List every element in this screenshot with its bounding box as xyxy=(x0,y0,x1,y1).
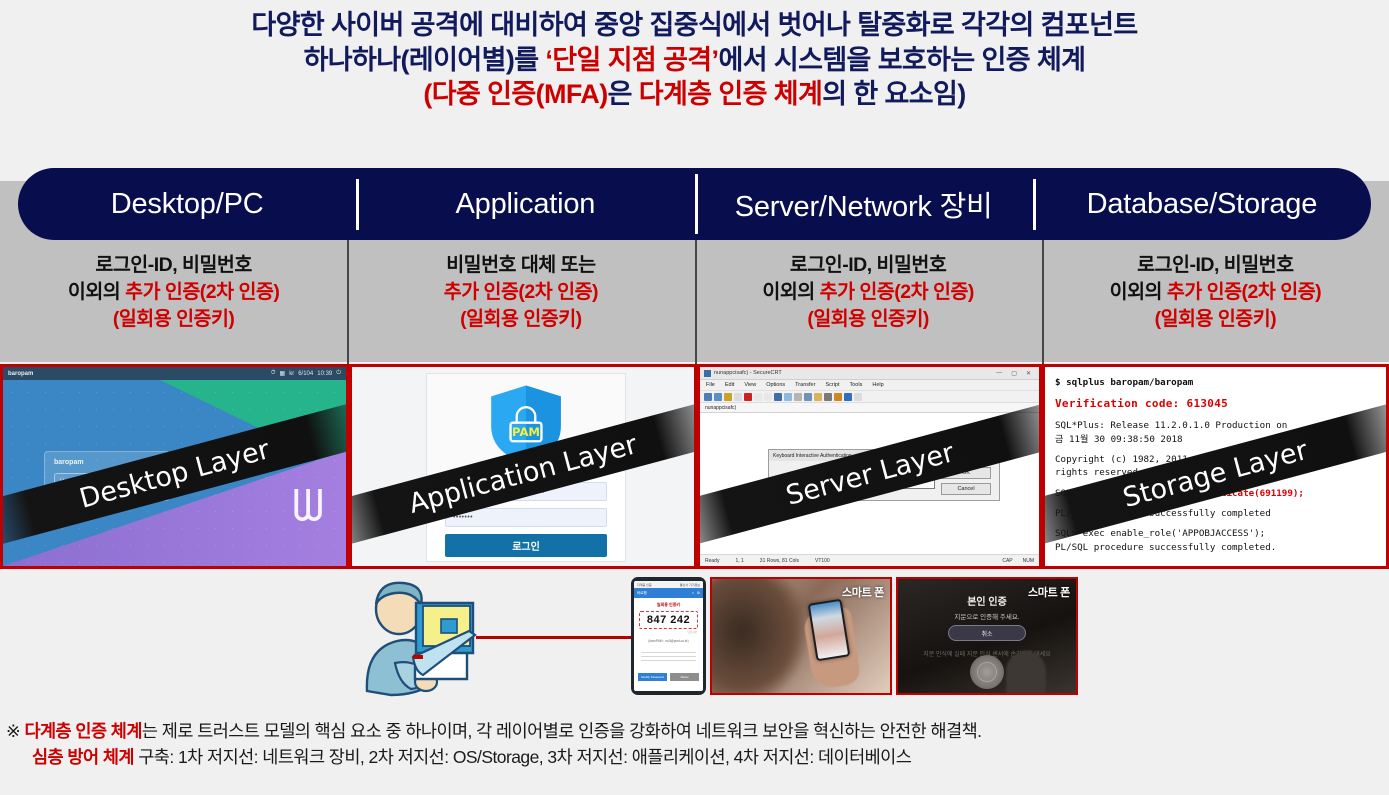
layer-description-row: 로그인-ID, 비밀번호 이외의 추가 인증(2차 인증) (일회용 인증키) … xyxy=(0,240,1389,362)
dialog-content: OK Cancel xyxy=(769,461,999,501)
desktop-login-box: baropam Verificat... xyxy=(44,451,170,501)
desc-line-2-red: 추가 인증(2차 인증) xyxy=(1167,281,1321,303)
sql-result-line-1: PL/SQL procedure successfully completed xyxy=(1055,507,1376,520)
photo-smartphone-in-hand: 스마트 폰 xyxy=(710,577,892,695)
dialog-titlebar: Keyboard Interactive Authentication ✕ xyxy=(769,450,999,461)
otp-status-left: 다계층 인증 xyxy=(637,583,652,587)
user-with-laptop-illustration xyxy=(355,579,480,697)
ok-button[interactable]: OK xyxy=(941,467,991,479)
desc-line-2-red: 추가 인증(2차 인증) xyxy=(347,279,694,306)
menu-tools[interactable]: Tools xyxy=(850,382,863,388)
screenshot-panel-row: baropam ⏱ ▦ kr 6/104 10:39 ⏻ baropam Ver… xyxy=(0,364,1389,569)
title-mfa-highlight: 다중 인증(MFA) xyxy=(432,79,608,109)
log-session-icon[interactable] xyxy=(784,393,792,401)
desktop-top-panel[interactable]: baropam ⏱ ▦ kr 6/104 10:39 ⏻ xyxy=(3,367,346,380)
maximize-icon[interactable]: ▢ xyxy=(1011,370,1017,377)
desc-line-2: 이외의 추가 인증(2차 인증) xyxy=(695,279,1042,306)
transfer-icon[interactable] xyxy=(794,393,802,401)
footnote-line-1-rest: 는 제로 트러스트 모델의 핵심 요소 중 하나이며, 각 레이어별로 인증을 … xyxy=(142,721,982,741)
folder-icon[interactable] xyxy=(724,393,732,401)
desc-line-3: (일회용 인증키) xyxy=(695,306,1042,333)
photo-background-blur xyxy=(710,577,808,695)
securecrt-titlebar: nunappcisafc) - SecureCRT — ▢ ✕ xyxy=(700,367,1039,380)
dialog-buttons: OK Cancel xyxy=(941,467,991,495)
status-num-lock: NUM xyxy=(1023,558,1034,564)
footnote-highlight-1: 다계층 인증 체계 xyxy=(24,721,141,741)
title-line-1: 다양한 사이버 공격에 대비하여 중앙 집중식에서 벗어나 탈중화로 각각의 컴… xyxy=(0,8,1389,43)
desktop-system-tray[interactable]: ⏱ ▦ kr 6/104 10:39 ⏻ xyxy=(271,370,341,377)
fingerprint-auth-subtitle: 지문으로 인증해 주세요. xyxy=(898,611,1076,621)
sql-copyright-line-2: rights reserved. xyxy=(1055,467,1144,478)
desc-line-1: 비밀번호 대체 또는 xyxy=(347,252,694,279)
title-line-3-c: 의 한 요소임) xyxy=(822,79,965,109)
description-desktop-pc: 로그인-ID, 비밀번호 이외의 추가 인증(2차 인증) (일회용 인증키) xyxy=(0,240,347,362)
title-paren-open: ( xyxy=(423,79,431,109)
sql-prompt-line: $ sqlplus baropam/baropam xyxy=(1055,376,1376,389)
input-language-indicator[interactable]: kr xyxy=(289,371,294,377)
menu-transfer[interactable]: Transfer xyxy=(795,382,815,388)
sql-release-line-2: 금 11월 30 09:38:50 2018 xyxy=(1055,434,1183,445)
status-rows-cols: 31 Rows, 81 Cols xyxy=(760,558,799,564)
panel-storage-layer: $ sqlplus baropam/baropam Verification c… xyxy=(1042,364,1389,569)
login-button[interactable]: 로그인 xyxy=(445,534,607,557)
otp-app-header: 바로팸 < ⚙ xyxy=(634,588,703,598)
new-session-icon[interactable] xyxy=(704,393,712,401)
svg-text:PAM: PAM xyxy=(512,425,540,439)
status-cursor-position: 1, 1 xyxy=(735,558,743,564)
status-indicators: CAP NUM xyxy=(1002,558,1034,564)
application-page-background: PAM baropam : no3@post.co.kr ••••••• 로그인 xyxy=(352,367,694,566)
status-ready: Ready xyxy=(705,558,719,564)
copy-icon[interactable] xyxy=(754,393,762,401)
status-caps-lock: CAP xyxy=(1002,558,1012,564)
menu-script[interactable]: Script xyxy=(825,382,839,388)
panel-application-layer: PAM baropam : no3@post.co.kr ••••••• 로그인… xyxy=(349,364,697,569)
desc-line-2-red: 추가 인증(2차 인증) xyxy=(820,281,974,303)
menu-options[interactable]: Options xyxy=(766,382,785,388)
window-title: nunappcisafc) - SecureCRT xyxy=(714,370,782,376)
password-field[interactable]: ••••••• xyxy=(445,508,607,527)
connect-icon[interactable] xyxy=(714,393,722,401)
sql-copyright-line-1: Copyright (c) 1982, 2011, Oracle. All xyxy=(1055,454,1265,465)
find-icon[interactable] xyxy=(774,393,782,401)
desc-line-2: 이외의 추가 인증(2차 인증) xyxy=(1042,279,1389,306)
desc-line-1: 로그인-ID, 비밀번호 xyxy=(1042,252,1389,279)
layer-header-bar: Desktop/PC Application Server/Network 장비… xyxy=(18,168,1371,240)
power-icon[interactable]: ⏻ xyxy=(336,370,341,377)
desc-line-1: 로그인-ID, 비밀번호 xyxy=(0,252,347,279)
otp-input[interactable] xyxy=(777,479,935,489)
photo-a-label: 스마트 폰 xyxy=(842,584,884,600)
menu-file[interactable]: File xyxy=(706,382,715,388)
securecrt-app-icon xyxy=(704,370,711,377)
photo-fingerprint-auth: 본인 인증 지문으로 인증해 주세요. 취소 지문 인식에 실패 지문 인식 센… xyxy=(896,577,1078,695)
header-desktop-pc: Desktop/PC xyxy=(18,188,356,221)
desc-line-3: (일회용 인증키) xyxy=(347,306,694,333)
desc-line-3: (일회용 인증키) xyxy=(1042,306,1389,333)
securecrt-session-tab[interactable]: nunappcisafc) xyxy=(700,403,1039,413)
description-database-storage: 로그인-ID, 비밀번호 이외의 추가 인증(2차 인증) (일회용 인증키) xyxy=(1042,240,1389,362)
menu-view[interactable]: View xyxy=(744,382,756,388)
title-line-2-a: 하나하나(레이어별)를 xyxy=(304,45,546,75)
properties-icon[interactable] xyxy=(854,393,862,401)
otp-phone-screen: 다계층 인증 통신사 기기정보 바로팸 < ⚙ 일회용 인증키 847 242 … xyxy=(634,581,703,691)
dialog-title: Keyboard Interactive Authentication xyxy=(773,453,852,459)
settings-icon[interactable] xyxy=(824,393,832,401)
keyboard-interactive-dialog: Keyboard Interactive Authentication ✕ OK… xyxy=(768,449,1000,501)
bottom-illustration-area: 다계층 인증 통신사 기기정보 바로팸 < ⚙ 일회용 인증키 847 242 … xyxy=(0,573,1389,703)
application-login-card: PAM baropam : no3@post.co.kr ••••••• 로그인 xyxy=(426,373,626,562)
securecrt-statusbar: Ready 1, 1 31 Rows, 81 Cols VT100 CAP NU… xyxy=(700,554,1039,566)
otp-header-icons[interactable]: < ⚙ xyxy=(692,591,700,595)
status-terminal-type: VT100 xyxy=(815,558,830,564)
modify-password-button[interactable]: Modify Password xyxy=(638,673,667,681)
dialog-close-icon[interactable]: ✕ xyxy=(990,452,995,459)
sql-exec-authenticate-line: SQL> exec authenticator.authenticate(691… xyxy=(1055,487,1376,500)
footnote-mark: ※ xyxy=(6,721,24,741)
window-buttons[interactable]: — ▢ ✕ xyxy=(996,370,1035,377)
otp-app-title: 바로팸 xyxy=(637,591,647,596)
otp-phone-mockup: 다계층 인증 통신사 기기정보 바로팸 < ⚙ 일회용 인증키 847 242 … xyxy=(631,577,706,695)
cancel-button[interactable]: Cancel xyxy=(941,483,991,495)
title-line-2-highlight: ‘단일 지점 공격’ xyxy=(545,45,718,75)
sql-exec-enable-role: SQL> exec enable_role('APPOBJACCESS'); xyxy=(1055,528,1265,539)
finger-shape xyxy=(1006,651,1046,695)
email-field[interactable]: baropam : no3@post.co.kr xyxy=(445,482,607,501)
session-tab-label: nunappcisafc) xyxy=(705,405,736,411)
desktop-verification-input[interactable]: Verificat... xyxy=(54,473,160,489)
otp-code-value: 847 242 xyxy=(639,611,698,629)
panel-desktop-layer: baropam ⏱ ▦ kr 6/104 10:39 ⏻ baropam Ver… xyxy=(0,364,349,569)
clock-icon[interactable]: ⏱ xyxy=(271,370,276,377)
desktop-session-label: baropam xyxy=(8,371,33,377)
description-server-network: 로그인-ID, 비밀번호 이외의 추가 인증(2차 인증) (일회용 인증키) xyxy=(695,240,1042,362)
pam-shield-icon: PAM xyxy=(487,384,565,466)
help-icon[interactable] xyxy=(844,393,852,401)
disconnect-icon[interactable] xyxy=(744,393,752,401)
upload-icon[interactable] xyxy=(834,393,842,401)
sql-exec-authenticate-command: exec authenticator.authenticate(691199); xyxy=(1083,488,1304,499)
share-icon[interactable]: < xyxy=(692,591,694,595)
desktop-login-username: baropam xyxy=(54,459,160,466)
sql-result-line-2: PL/SQL procedure successfully completed. xyxy=(1055,542,1276,553)
paste-icon[interactable] xyxy=(764,393,772,401)
print-icon[interactable] xyxy=(734,393,742,401)
sql-exec-enable-role-block: SQL> exec enable_role('APPOBJACCESS');PL… xyxy=(1055,527,1376,554)
header-database-storage: Database/Storage xyxy=(1033,188,1371,221)
fingerprint-sensor-icon[interactable] xyxy=(970,655,1004,689)
title-line-3-b: 은 xyxy=(608,79,639,109)
application-form: baropam : no3@post.co.kr ••••••• 로그인 xyxy=(427,472,625,561)
title-layered-highlight: 다계층 인증 체계 xyxy=(639,79,822,109)
fingerprint-cancel-button[interactable]: 취소 xyxy=(948,625,1026,641)
footnote-line-2: 심층 방어 체계 구축: 1차 저지선: 네트워크 장비, 2차 저지선: OS… xyxy=(6,744,1386,770)
otp-timer-label: 남은시간 xyxy=(634,630,697,634)
footnote-line-2-rest: 구축: 1차 저지선: 네트워크 장비, 2차 저지선: OS/Storage,… xyxy=(134,747,911,767)
securecrt-toolbar[interactable] xyxy=(700,391,1039,403)
smartphone-screen xyxy=(810,601,848,659)
otp-action-buttons: Modify Password Reset xyxy=(638,673,699,681)
sftp-icon[interactable] xyxy=(804,393,812,401)
gear-icon[interactable]: ⚙ xyxy=(697,591,700,595)
sqlplus-terminal[interactable]: $ sqlplus baropam/baropam Verification c… xyxy=(1045,367,1386,566)
securecrt-menubar[interactable]: File Edit View Options Transfer Script T… xyxy=(700,380,1039,391)
desc-line-2-black: 이외의 xyxy=(762,281,819,303)
verification-code-line: Verification code: 613045 xyxy=(1055,396,1376,412)
description-application: 비밀번호 대체 또는 추가 인증(2차 인증) (일회용 인증키) xyxy=(347,240,694,362)
sql-release-line-1: SQL*Plus: Release 11.2.0.1.0 Production … xyxy=(1055,420,1287,431)
minimize-icon[interactable]: — xyxy=(996,370,1002,377)
footnote: ※ 다계층 인증 체계는 제로 트러스트 모델의 핵심 요소 중 하나이며, 각… xyxy=(6,718,1386,771)
battery-indicator[interactable]: 6/104 xyxy=(298,371,313,377)
desc-line-1: 로그인-ID, 비밀번호 xyxy=(695,252,1042,279)
desc-line-3: (일회용 인증키) xyxy=(0,306,347,333)
page-title: 다양한 사이버 공격에 대비하여 중앙 집중식에서 벗어나 탈중화로 각각의 컴… xyxy=(0,0,1389,112)
clock-text: 10:39 xyxy=(317,371,332,377)
otp-section-title: 일회용 인증키 xyxy=(634,602,703,608)
desc-line-2: 이외의 추가 인증(2차 인증) xyxy=(0,279,347,306)
header-application: Application xyxy=(356,188,694,221)
desc-line-2-black: 이외의 xyxy=(68,281,125,303)
otp-account-email: (baroPAM : no3@post.co.kr) xyxy=(634,639,703,643)
title-line-3: (다중 인증(MFA)은 다계층 인증 체계의 한 요소임) xyxy=(0,77,1389,112)
otp-phone-statusbar: 다계층 인증 통신사 기기정보 xyxy=(634,581,703,588)
otp-status-right: 통신사 기기정보 xyxy=(680,583,700,587)
keyboard-icon[interactable]: ▦ xyxy=(280,370,286,377)
desc-line-2-black: 이외의 xyxy=(1110,281,1167,303)
panel-server-layer: nunappcisafc) - SecureCRT — ▢ ✕ File Edi… xyxy=(697,364,1042,569)
title-line-2-b: 에서 시스템을 보호하는 인증 체계 xyxy=(718,45,1085,75)
title-line-2: 하나하나(레이어별)를 ‘단일 지점 공격’에서 시스템을 보호하는 인증 체계 xyxy=(0,43,1389,78)
xfer-icon[interactable] xyxy=(814,393,822,401)
securecrt-window: nunappcisafc) - SecureCRT — ▢ ✕ File Edi… xyxy=(700,367,1039,566)
header-server-network: Server/Network 장비 xyxy=(695,183,1033,225)
reset-button[interactable]: Reset xyxy=(670,673,699,681)
photo-b-label: 스마트 폰 xyxy=(1028,584,1070,600)
footnote-highlight-2: 심층 방어 체계 xyxy=(32,747,134,767)
otp-help-text-placeholder xyxy=(641,652,696,661)
close-icon[interactable]: ✕ xyxy=(1026,370,1031,377)
footnote-line-1: ※ 다계층 인증 체계는 제로 트러스트 모델의 핵심 요소 중 하나이며, 각… xyxy=(6,718,1386,744)
desc-line-2-red: 추가 인증(2차 인증) xyxy=(125,281,279,303)
sql-release-block: SQL*Plus: Release 11.2.0.1.0 Production … xyxy=(1055,419,1376,446)
menu-help[interactable]: Help xyxy=(872,382,883,388)
sql-copyright-block: Copyright (c) 1982, 2011, Oracle. Allrig… xyxy=(1055,453,1376,480)
terminal-body[interactable]: Keyboard Interactive Authentication ✕ OK… xyxy=(700,413,1039,554)
distro-logo-icon: ᗯ xyxy=(292,481,324,532)
menu-edit[interactable]: Edit xyxy=(725,382,734,388)
connection-line xyxy=(476,636,633,639)
sql-prompt-prefix: SQL> xyxy=(1055,488,1083,499)
